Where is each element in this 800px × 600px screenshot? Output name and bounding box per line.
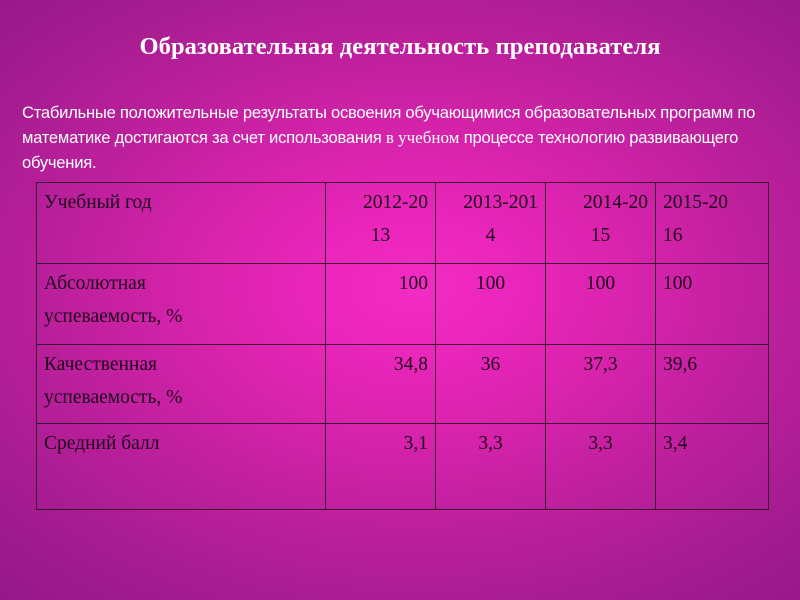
results-table: Учебный год 2012-20 13 2013-201 4 201 bbox=[36, 182, 769, 510]
cell-average-2015-2016: 3,4 bbox=[656, 424, 769, 510]
row-label-quality-line2: успеваемость, % bbox=[44, 381, 318, 414]
row-label-absolute-line2: успеваемость, % bbox=[44, 300, 318, 333]
cell-average-2014-2015: 3,3 bbox=[546, 424, 656, 510]
row-label-average-score: Средний балл bbox=[37, 424, 326, 510]
header-cell-year-4: 2015-20 16 bbox=[656, 183, 769, 264]
table-row: Средний балл 3,1 3,3 3,3 3,4 bbox=[37, 424, 769, 510]
table-row: Качественная успеваемость, % 34,8 36 37,… bbox=[37, 345, 769, 424]
table-header-row: Учебный год 2012-20 13 2013-201 4 201 bbox=[37, 183, 769, 264]
cell-absolute-2012-2013: 100 bbox=[326, 264, 436, 345]
header-year-2-line1: 2013-201 bbox=[443, 186, 538, 219]
cell-absolute-2015-2016: 100 bbox=[656, 264, 769, 345]
slide-canvas: Образовательная деятельность преподавате… bbox=[0, 0, 800, 600]
cell-absolute-2014-2015: 100 bbox=[546, 264, 656, 345]
header-cell-year-1: 2012-20 13 bbox=[326, 183, 436, 264]
header-year-4-line1: 2015-20 bbox=[663, 186, 761, 219]
header-year-3-line1: 2014-20 bbox=[553, 186, 648, 219]
header-year-3-line2: 15 bbox=[553, 219, 648, 252]
header-year-1-line2: 13 bbox=[333, 219, 428, 252]
header-cell-year-3: 2014-20 15 bbox=[546, 183, 656, 264]
cell-average-2013-2014: 3,3 bbox=[436, 424, 546, 510]
body-line-3-serif: в учебном bbox=[386, 128, 460, 147]
header-year-4-line2: 16 bbox=[663, 219, 761, 252]
body-paragraph: Стабильные положительные результаты осво… bbox=[22, 100, 784, 175]
body-line-1: Стабильные положительные результаты осво… bbox=[22, 103, 520, 122]
header-year-1-line1: 2012-20 bbox=[333, 186, 428, 219]
cell-quality-2013-2014: 36 bbox=[436, 345, 546, 424]
header-cell-year-2: 2013-201 4 bbox=[436, 183, 546, 264]
header-year-2-line2: 4 bbox=[443, 219, 538, 252]
page-title: Образовательная деятельность преподавате… bbox=[0, 33, 800, 61]
header-cell-row-label: Учебный год bbox=[37, 183, 326, 264]
row-label-absolute-line1: Абсолютная bbox=[44, 267, 318, 300]
row-label-average-score-line1: Средний балл bbox=[44, 427, 318, 460]
cell-absolute-2013-2014: 100 bbox=[436, 264, 546, 345]
cell-quality-2014-2015: 37,3 bbox=[546, 345, 656, 424]
cell-average-2012-2013: 3,1 bbox=[326, 424, 436, 510]
row-label-quality-line1: Качественная bbox=[44, 348, 318, 381]
cell-quality-2012-2013: 34,8 bbox=[326, 345, 436, 424]
row-label-quality: Качественная успеваемость, % bbox=[37, 345, 326, 424]
cell-quality-2015-2016: 39,6 bbox=[656, 345, 769, 424]
table-row: Абсолютная успеваемость, % 100 100 100 1… bbox=[37, 264, 769, 345]
row-label-absolute: Абсолютная успеваемость, % bbox=[37, 264, 326, 345]
